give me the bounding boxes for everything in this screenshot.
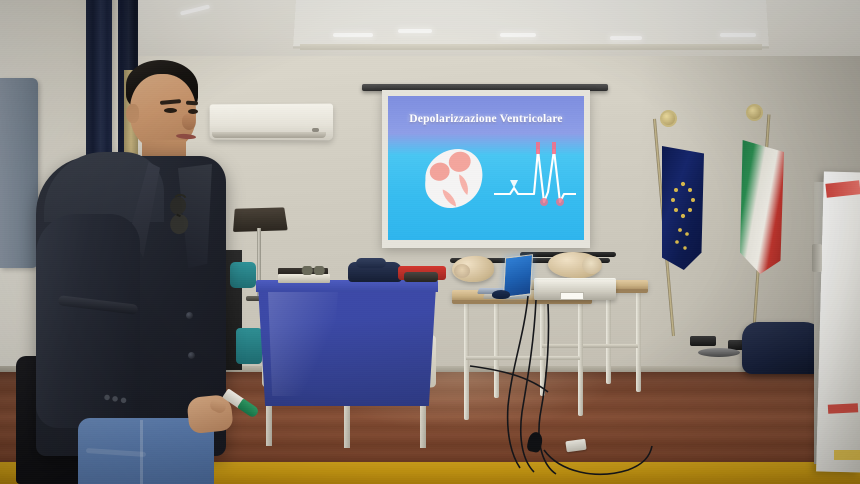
air-conditioner-vent xyxy=(212,132,326,138)
presenter-eye xyxy=(164,108,177,113)
tablecloth-highlight xyxy=(268,292,338,396)
sunglasses-icon xyxy=(300,266,326,275)
presenter-nose xyxy=(182,114,196,130)
presentation-room-photo: Depolarizzazione Ventricolare xyxy=(0,0,860,484)
table-leg xyxy=(344,404,350,448)
projection-screen: Depolarizzazione Ventricolare xyxy=(382,90,590,248)
chair-teal xyxy=(230,262,256,288)
presenter-ear xyxy=(126,104,139,123)
cpr-manikin-face xyxy=(454,264,470,278)
wall-panel-board xyxy=(0,78,38,268)
ceiling-light-fixture xyxy=(333,33,373,37)
table-leg xyxy=(266,400,272,446)
ceiling-light-fixture xyxy=(720,33,756,37)
ceiling-recess xyxy=(293,0,769,48)
ceiling-light-fixture xyxy=(500,33,536,37)
ecg-waveform-icon xyxy=(494,140,576,218)
table-item-book xyxy=(278,274,330,283)
flag-base-plate xyxy=(698,348,740,357)
flipchart-easel xyxy=(816,171,860,472)
ceiling-lip xyxy=(300,44,762,50)
presenter-sleeve xyxy=(36,214,140,428)
floor-cable xyxy=(540,444,670,484)
flag-finial-icon xyxy=(746,104,763,121)
cpr-manikin-face xyxy=(582,256,602,274)
eu-stars-icon xyxy=(662,146,704,270)
slide-surface: Depolarizzazione Ventricolare xyxy=(388,96,584,240)
air-conditioner-indicator xyxy=(312,128,319,132)
jacket-button xyxy=(188,352,195,359)
ceiling-light-fixture xyxy=(398,29,432,33)
jacket-button xyxy=(186,312,193,319)
table-item-navy-bag-top xyxy=(356,258,386,268)
table-leg xyxy=(420,400,426,448)
flipchart-yellow-marking xyxy=(834,450,860,460)
chair-teal xyxy=(236,328,262,364)
flipchart-clip xyxy=(812,244,822,272)
table-item-dark-object xyxy=(404,272,438,282)
italian-flag xyxy=(740,140,784,274)
flag-finial-icon xyxy=(660,110,677,127)
flag-base xyxy=(690,336,716,346)
ceiling-light-fixture xyxy=(610,36,642,40)
slide-title: Depolarizzazione Ventricolare xyxy=(388,113,584,125)
flipchart-red-marking xyxy=(828,403,858,414)
presenter-eyebrow xyxy=(186,101,198,106)
heart-diagram-icon xyxy=(408,133,501,223)
